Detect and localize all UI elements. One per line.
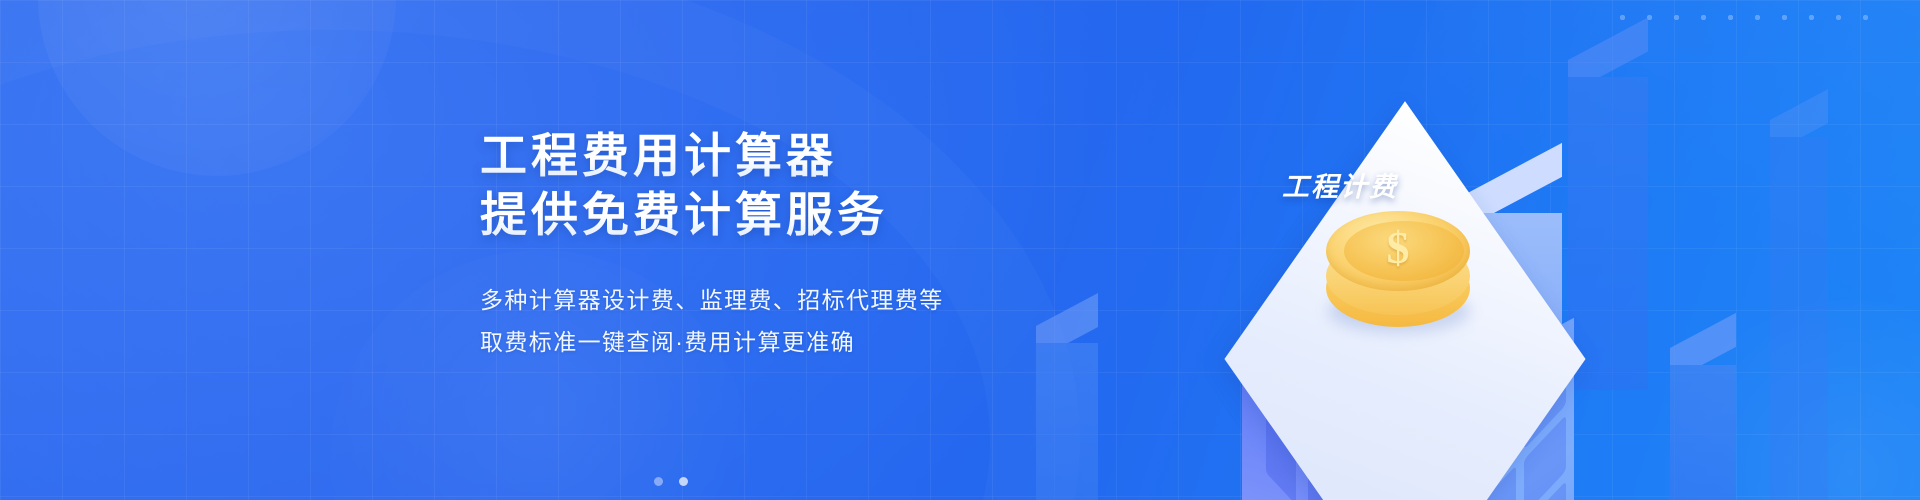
banner-title-line-2: 提供免费计算服务 [480,185,1120,244]
iso-tower-far [1770,120,1828,500]
carousel-dots[interactable] [654,477,688,486]
hero-banner: 工程费用计算器 提供免费计算服务 多种计算器设计费、监理费、招标代理费等 取费标… [0,0,1920,500]
iso-tower-short [1670,348,1736,500]
banner-subtitle-line-2: 取费标准一键查阅·费用计算更准确 [480,322,1120,364]
dollar-sign-icon: $ [1326,225,1470,271]
gold-coin-icon: $ [1320,205,1476,333]
banner-text-block: 工程费用计算器 提供免费计算服务 多种计算器设计费、监理费、招标代理费等 取费标… [480,126,1120,364]
banner-subtitle-block: 多种计算器设计费、监理费、招标代理费等 取费标准一键查阅·费用计算更准确 [480,280,1120,364]
coin-top-face: $ [1326,211,1470,291]
banner-subtitle-line-1: 多种计算器设计费、监理费、招标代理费等 [480,280,1120,322]
carousel-dot-1[interactable] [654,477,663,486]
banner-title-line-1: 工程费用计算器 [480,126,1120,185]
decorative-circle-left [38,0,396,176]
carousel-dot-2[interactable] [679,477,688,486]
illustration-label: 工程计费 [1282,165,1398,204]
banner-illustration: 工程计费 [1070,0,1920,500]
